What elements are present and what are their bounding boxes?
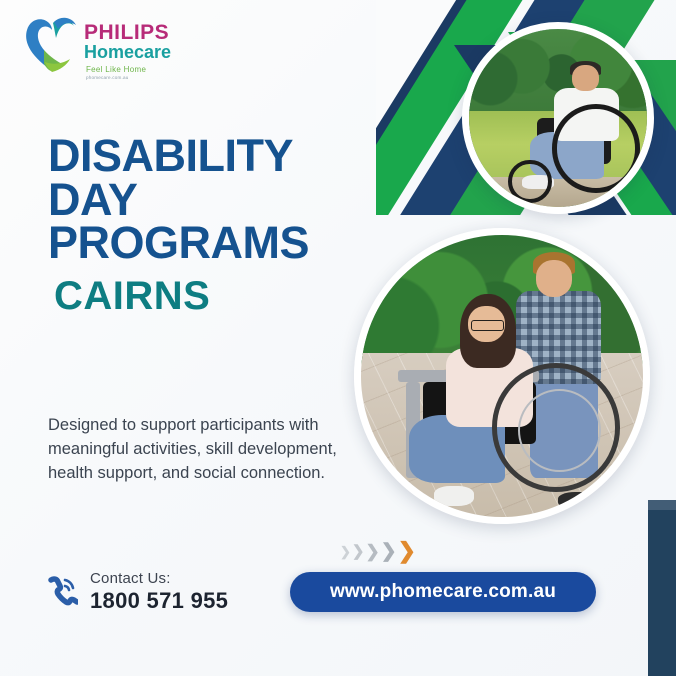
headline-line-3: PROGRAMS — [48, 221, 378, 265]
logo-wordmark: PHILIPS Homecare Feel Like Home phomecar… — [84, 22, 171, 80]
navy-accent-bar — [648, 510, 676, 676]
logo-tagline: Feel Like Home — [86, 65, 171, 74]
photo-woman-with-carer — [354, 228, 650, 524]
promotional-flyer: PHILIPS Homecare Feel Like Home phomecar… — [0, 0, 676, 676]
contact-text-group: Contact Us: 1800 571 955 — [90, 570, 228, 614]
logo-brand-primary: PHILIPS — [84, 22, 171, 43]
carer-shoe — [558, 492, 600, 509]
logo-brand-secondary: Homecare — [84, 43, 171, 62]
person-head — [572, 65, 599, 92]
logo-url: phomecare.com.au — [86, 75, 171, 80]
contact-phone-number[interactable]: 1800 571 955 — [90, 588, 228, 614]
website-cta-button[interactable]: www.phomecare.com.au — [290, 572, 596, 612]
headline-highlight-cairns: CAIRNS — [54, 275, 378, 317]
stripe-green-1 — [376, 0, 460, 215]
photo-top-scene — [469, 29, 647, 207]
photo-bottom-scene — [361, 235, 643, 517]
headline-line-2: DAY — [48, 178, 378, 222]
chevron-1: ❯ — [340, 545, 351, 558]
wheelchair-wheel-small — [508, 160, 552, 204]
chevron-4: ❯ — [381, 542, 397, 561]
wheelchair-wheel-large — [552, 104, 640, 192]
chevron-2: ❯ — [352, 544, 365, 559]
chevron-5: ❯ — [398, 540, 416, 562]
wheelchair-wheel-rim — [518, 389, 601, 472]
woman-glasses — [471, 320, 504, 332]
woman-shoe — [434, 486, 473, 506]
navy-accent-bar-cap — [648, 500, 676, 510]
carer-head — [536, 260, 573, 297]
website-url-label: www.phomecare.com.au — [330, 581, 556, 603]
contact-label: Contact Us: — [90, 570, 228, 587]
phone-call-icon — [44, 575, 78, 609]
photo-man-in-wheelchair — [462, 22, 654, 214]
chevron-3: ❯ — [365, 543, 379, 560]
headline-line-1: DISABILITY — [48, 134, 378, 178]
description-text: Designed to support participants with me… — [48, 413, 344, 486]
contact-block[interactable]: Contact Us: 1800 571 955 — [44, 570, 228, 614]
double-chevron-right-icon: ❯ ❯ ❯ ❯ ❯ — [340, 540, 416, 562]
heart-swoosh-icon — [20, 10, 82, 76]
brand-logo[interactable]: PHILIPS Homecare Feel Like Home phomecar… — [20, 8, 230, 82]
page-title: DISABILITY DAY PROGRAMS CAIRNS — [48, 134, 378, 317]
